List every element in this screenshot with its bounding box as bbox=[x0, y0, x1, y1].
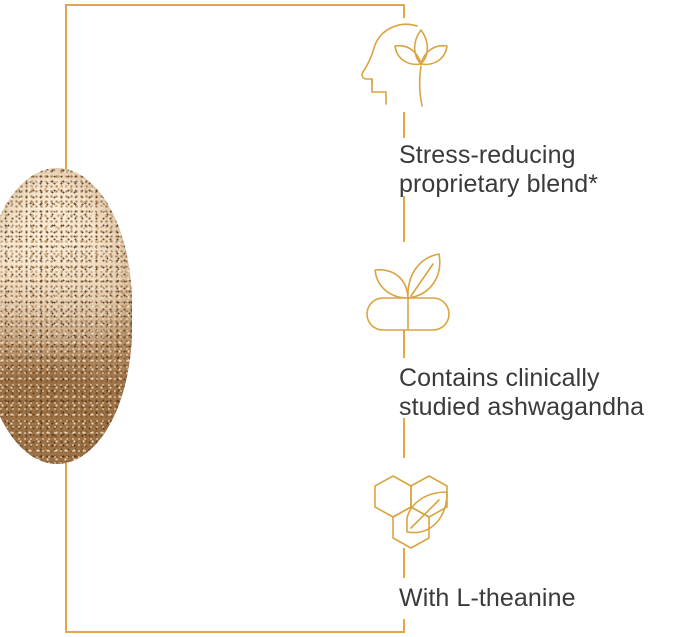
tablet-shape bbox=[0, 168, 132, 464]
benefit-1-line-1: Stress-reducing bbox=[399, 141, 598, 170]
connector-segment-2 bbox=[403, 196, 405, 242]
frame-top-line bbox=[65, 4, 405, 6]
benefit-text-1: Stress-reducing proprietary blend* bbox=[399, 141, 598, 199]
benefit-2-line-1: Contains clinically bbox=[399, 364, 644, 393]
benefit-2-line-2: studied ashwagandha bbox=[399, 393, 644, 422]
benefit-3-line-1: With L-theanine bbox=[399, 584, 576, 613]
connector-segment-4 bbox=[403, 418, 405, 458]
capsule-leaves-icon bbox=[355, 240, 465, 340]
head-lotus-icon bbox=[355, 14, 465, 114]
product-tablet-image bbox=[0, 168, 132, 464]
frame-bottom-right-stub bbox=[403, 619, 405, 633]
benefit-text-3: With L-theanine bbox=[399, 584, 576, 613]
infographic-canvas: Stress-reducing proprietary blend* Conta… bbox=[0, 0, 679, 637]
honeycomb-leaf-icon bbox=[355, 462, 465, 562]
frame-bottom-line bbox=[65, 631, 405, 633]
benefit-text-2: Contains clinically studied ashwagandha bbox=[399, 364, 644, 422]
benefit-1-line-2: proprietary blend* bbox=[399, 170, 598, 199]
connector-segment-1 bbox=[403, 112, 405, 138]
